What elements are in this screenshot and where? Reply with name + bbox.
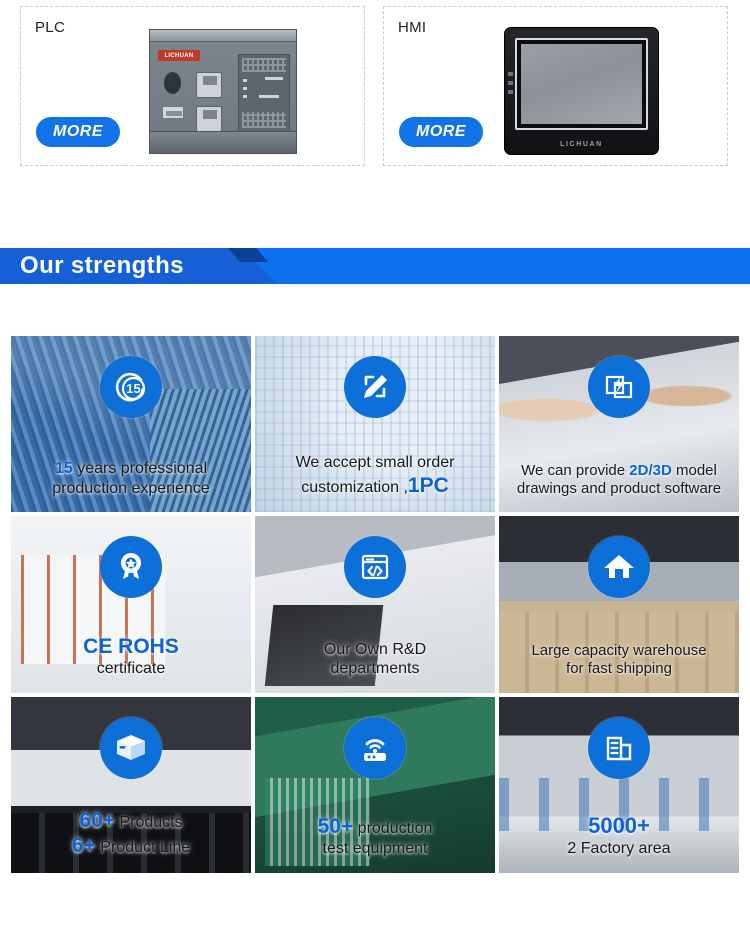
strength-card-warehouse[interactable]: Large capacity warehouse for fast shippi…	[499, 516, 739, 692]
more-button-hmi[interactable]: MORE	[399, 117, 483, 147]
card-line1: We accept small order	[259, 453, 491, 473]
card-highlight-2: 6+	[72, 834, 96, 857]
card-text: 15 years professional production experie…	[15, 459, 247, 498]
plc-led-1-icon	[243, 79, 247, 82]
product-panel-plc[interactable]: PLC LICHUAN MORE	[20, 6, 365, 166]
card-text: Large capacity warehouse for fast shippi…	[503, 642, 735, 679]
clock-15-icon: 15	[100, 356, 162, 418]
card-line2: 2 Factory area	[503, 839, 735, 859]
card-highlight: CE ROHS	[83, 635, 179, 658]
package-box-icon	[100, 717, 162, 779]
plc-led-3-icon	[243, 95, 247, 98]
hmi-brand-logo: LICHUAN	[505, 141, 658, 148]
plc-top-strip	[150, 30, 296, 42]
card-text: 5000+ 2 Factory area	[503, 813, 735, 859]
card-line1: Large capacity warehouse	[503, 642, 735, 660]
plc-brand-logo: LICHUAN	[158, 50, 200, 61]
plc-usb-port-icon	[162, 106, 184, 119]
card-text: We accept small order customization ,1PC	[259, 453, 491, 498]
strength-card-ce-rohs[interactable]: CE ROHS certificate	[11, 516, 251, 692]
card-line2: for fast shipping	[503, 660, 735, 678]
plc-terminal-panel	[238, 54, 290, 132]
card-highlight: 5000+	[588, 813, 650, 838]
page-root: PLC LICHUAN MORE	[0, 0, 750, 925]
card-highlight: 2D/3D	[629, 462, 672, 479]
strength-card-factory-area[interactable]: 5000+ 2 Factory area	[499, 697, 739, 873]
router-signal-icon	[344, 717, 406, 779]
card-line1: Our Own R&D	[259, 640, 491, 660]
strength-card-rd-department[interactable]: Our Own R&D departments	[255, 516, 495, 692]
plc-ethernet-port-1-icon	[196, 72, 222, 98]
plc-device-image: LICHUAN	[149, 29, 297, 154]
plc-led-4-icon	[259, 95, 279, 98]
card-line2-rest: Product Line	[96, 839, 190, 856]
card-highlight: 15	[55, 460, 73, 477]
product-label-hmi: HMI	[398, 19, 426, 36]
strength-card-test-equipment[interactable]: 50+ production test equipment	[255, 697, 495, 873]
card-line2: certificate	[15, 659, 247, 679]
card-line2-rest: customization ,	[301, 479, 408, 496]
card-line1-pre: We can provide	[521, 462, 629, 479]
hmi-device-image: LICHUAN	[504, 27, 659, 155]
card-text: Our Own R&D departments	[259, 640, 491, 679]
strength-card-products[interactable]: 60+ Products 6+ Product Line	[11, 697, 251, 873]
plc-led-2-icon	[243, 87, 247, 90]
card-text: 50+ production test equipment	[259, 814, 491, 859]
card-text: 60+ Products 6+ Product Line	[15, 808, 247, 859]
card-line2: test equipment	[259, 839, 491, 859]
plc-terminal-dots-bottom	[242, 112, 286, 128]
pencil-customization-icon	[344, 356, 406, 418]
strength-card-2d-3d-model[interactable]: We can provide 2D/3D model drawings and …	[499, 336, 739, 512]
card-line2: departments	[259, 659, 491, 679]
award-badge-icon	[100, 536, 162, 598]
card-line1-rest: Products	[115, 814, 183, 831]
card-line1-rest: production	[353, 820, 432, 837]
strength-card-15-years[interactable]: 15 15 years professional production expe…	[11, 336, 251, 512]
plc-led-5-icon	[265, 77, 283, 80]
card-text: We can provide 2D/3D model drawings and …	[503, 462, 735, 499]
card-line2: production experience	[15, 479, 247, 499]
plc-ethernet-port-2-icon	[196, 106, 222, 132]
hmi-side-buttons	[508, 72, 513, 99]
code-window-icon	[344, 536, 406, 598]
building-icon	[588, 717, 650, 779]
svg-text:15: 15	[126, 381, 140, 396]
card-line1-rest: years professional	[73, 460, 207, 477]
strengths-grid: 15 15 years professional production expe…	[11, 336, 739, 873]
card-line1-post: model	[672, 462, 717, 479]
product-panel-row: PLC LICHUAN MORE	[0, 6, 750, 171]
product-panel-hmi[interactable]: HMI LICHUAN MORE	[383, 6, 728, 166]
home-warehouse-icon	[588, 536, 650, 598]
strength-card-small-order[interactable]: We accept small order customization ,1PC	[255, 336, 495, 512]
plc-bottom-strip	[150, 131, 296, 153]
section-banner: Our strengths	[0, 248, 750, 284]
card-text: CE ROHS certificate	[15, 634, 247, 679]
product-label-plc: PLC	[35, 19, 65, 36]
section-title: Our strengths	[20, 248, 184, 284]
card-highlight: 1PC	[408, 474, 449, 497]
card-highlight: 60+	[79, 809, 115, 832]
card-highlight: 50+	[318, 815, 354, 838]
card-line2: drawings and product software	[503, 480, 735, 498]
hmi-bezel	[515, 38, 648, 130]
cad-drawing-icon	[588, 356, 650, 418]
plc-terminal-dots-top	[242, 58, 286, 72]
hmi-screen	[521, 44, 642, 124]
more-button-plc[interactable]: MORE	[36, 117, 120, 147]
plc-knob-icon	[164, 72, 181, 94]
